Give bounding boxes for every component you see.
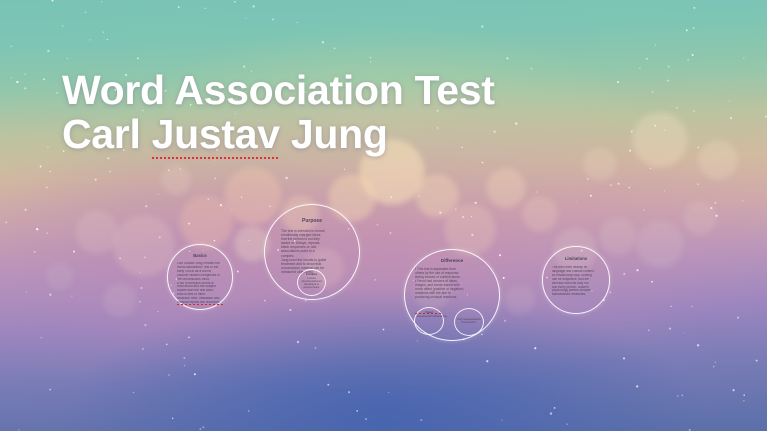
bokeh-circle — [179, 195, 233, 249]
node-text-line: unusual replies are recorded. — [177, 301, 225, 305]
node-limitations-heading: Limitations — [543, 256, 609, 261]
bokeh-circle — [486, 168, 526, 208]
node-text-line: core theme. — [307, 286, 320, 289]
node-text-line: without — [433, 316, 440, 318]
sparkle-overlay — [0, 0, 767, 431]
prezi-canvas[interactable]: Word Association Test Carl Justav Jung B… — [0, 0, 767, 431]
subnode-freud-body: Freeassociationwithouttiming. — [417, 316, 441, 319]
title-author-first: Carl — [62, 111, 152, 157]
title-author-misspelled: Justav — [152, 111, 280, 159]
node-basics-heading: Basics — [168, 253, 232, 258]
subnode-jung-body: Jung measuredreaction timeand affect. — [457, 319, 481, 325]
node-text-line: and affect. — [466, 322, 477, 324]
subnode-freud-heading: Freud — [415, 311, 443, 314]
title-line-2: Carl Justav Jung — [62, 112, 495, 156]
prezi-subnode-complex[interactable]: Complex A cluster ofemotionallytoned ide… — [297, 269, 326, 296]
subnode-complex-body: A cluster ofemotionallytoned ideaslinked… — [300, 278, 323, 290]
title-author-last: Jung — [280, 111, 388, 157]
node-difference-body: • This test is separated from others by … — [415, 267, 493, 299]
prezi-subnode-freud[interactable]: Freud Freeassociationwithouttiming. — [414, 307, 444, 335]
bokeh-circle — [415, 174, 459, 218]
node-text-line: Jung measured — [457, 319, 473, 321]
node-basics-body: Carl Gustav Jung created theWord Associa… — [177, 262, 225, 305]
prezi-node-difference[interactable]: Difference • This test is separated from… — [404, 249, 500, 341]
bokeh-circle — [113, 215, 175, 277]
subnode-complex-heading: Complex — [298, 273, 325, 276]
page-title: Word Association Test Carl Justav Jung — [62, 68, 495, 157]
prezi-node-basics[interactable]: Basics Carl Gustav Jung created theWord … — [167, 244, 233, 310]
bokeh-circle — [161, 165, 191, 195]
bokeh-circle — [583, 147, 617, 181]
bokeh-circle — [698, 140, 738, 180]
node-difference-heading: Difference — [405, 258, 499, 263]
bokeh-circle — [75, 210, 119, 254]
prezi-subnode-jung[interactable]: Jung measuredreaction timeand affect. — [454, 308, 484, 336]
node-purpose-heading: Purpose — [265, 218, 359, 224]
node-text-line: standardised measures. — [552, 293, 602, 297]
node-text-line: association — [422, 316, 434, 318]
bokeh-circle — [683, 201, 717, 235]
bokeh-circle — [103, 283, 137, 317]
bokeh-circle — [224, 167, 282, 225]
prezi-node-purpose[interactable]: Purpose The test is intended to revealem… — [264, 204, 360, 300]
bokeh-circle — [599, 217, 637, 255]
title-line-1: Word Association Test — [62, 67, 495, 113]
bokeh-circle — [636, 220, 684, 268]
bokeh-circle — [505, 285, 535, 315]
prezi-node-limitations[interactable]: Limitations The test relies heavily onla… — [542, 246, 610, 314]
bokeh-circle — [632, 112, 688, 168]
node-limitations-body: The test relies heavily onlanguage and c… — [552, 266, 602, 297]
node-text-line: timing. — [441, 316, 448, 318]
bokeh-circle — [522, 196, 558, 232]
bokeh-circle — [46, 262, 74, 290]
node-text-line: producing unusual reactions. — [415, 295, 493, 299]
node-purpose-body: The test is intended to revealemotionall… — [281, 229, 347, 274]
